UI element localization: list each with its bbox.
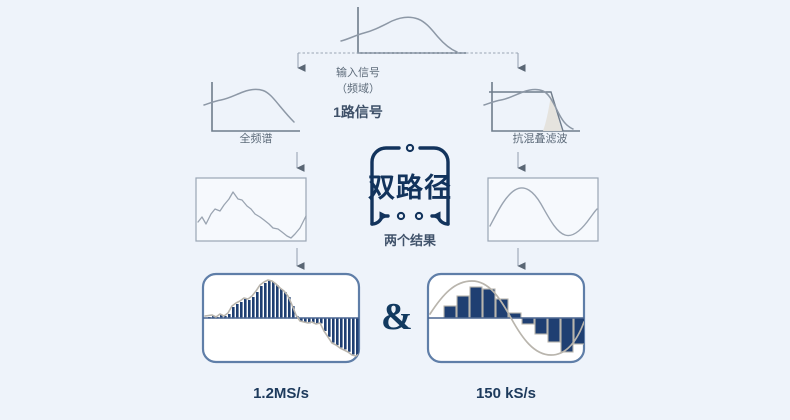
input-signal-label-line2: （频域） [318,82,398,97]
badge-dot-icon [407,145,413,151]
diagram-canvas: 输入信号 （频域） 1路信号 全频谱 抗混叠滤波 双路径 两个结果 & 1.2M… [0,0,790,420]
one-channel-label: 1路信号 [318,102,398,122]
badge-title: 双路径 [350,166,470,205]
chart-full-spectrum [204,82,300,131]
chart-input-spectrum [341,7,466,53]
panel-wideband-time-trace [196,178,306,241]
right-rate-label: 150 kS/s [446,385,566,402]
two-results-label: 两个结果 [360,230,460,249]
full-spectrum-label: 全频谱 [216,132,296,147]
anti-alias-filter-label: 抗混叠滤波 [490,132,590,147]
badge-dot-icon [416,213,422,219]
input-signal-label-line1: 输入信号 [318,66,398,81]
left-rate-label: 1.2MS/s [221,385,341,402]
panel-sampled-wideband [203,274,363,362]
chart-anti-alias-filter [484,82,580,131]
badge-dot-icon [398,213,404,219]
panel-sampled-filtered [428,274,586,362]
ampersand-separator: & [381,295,413,339]
panel-filtered-sine-trace [488,178,598,241]
diagram-graphics [0,0,790,420]
